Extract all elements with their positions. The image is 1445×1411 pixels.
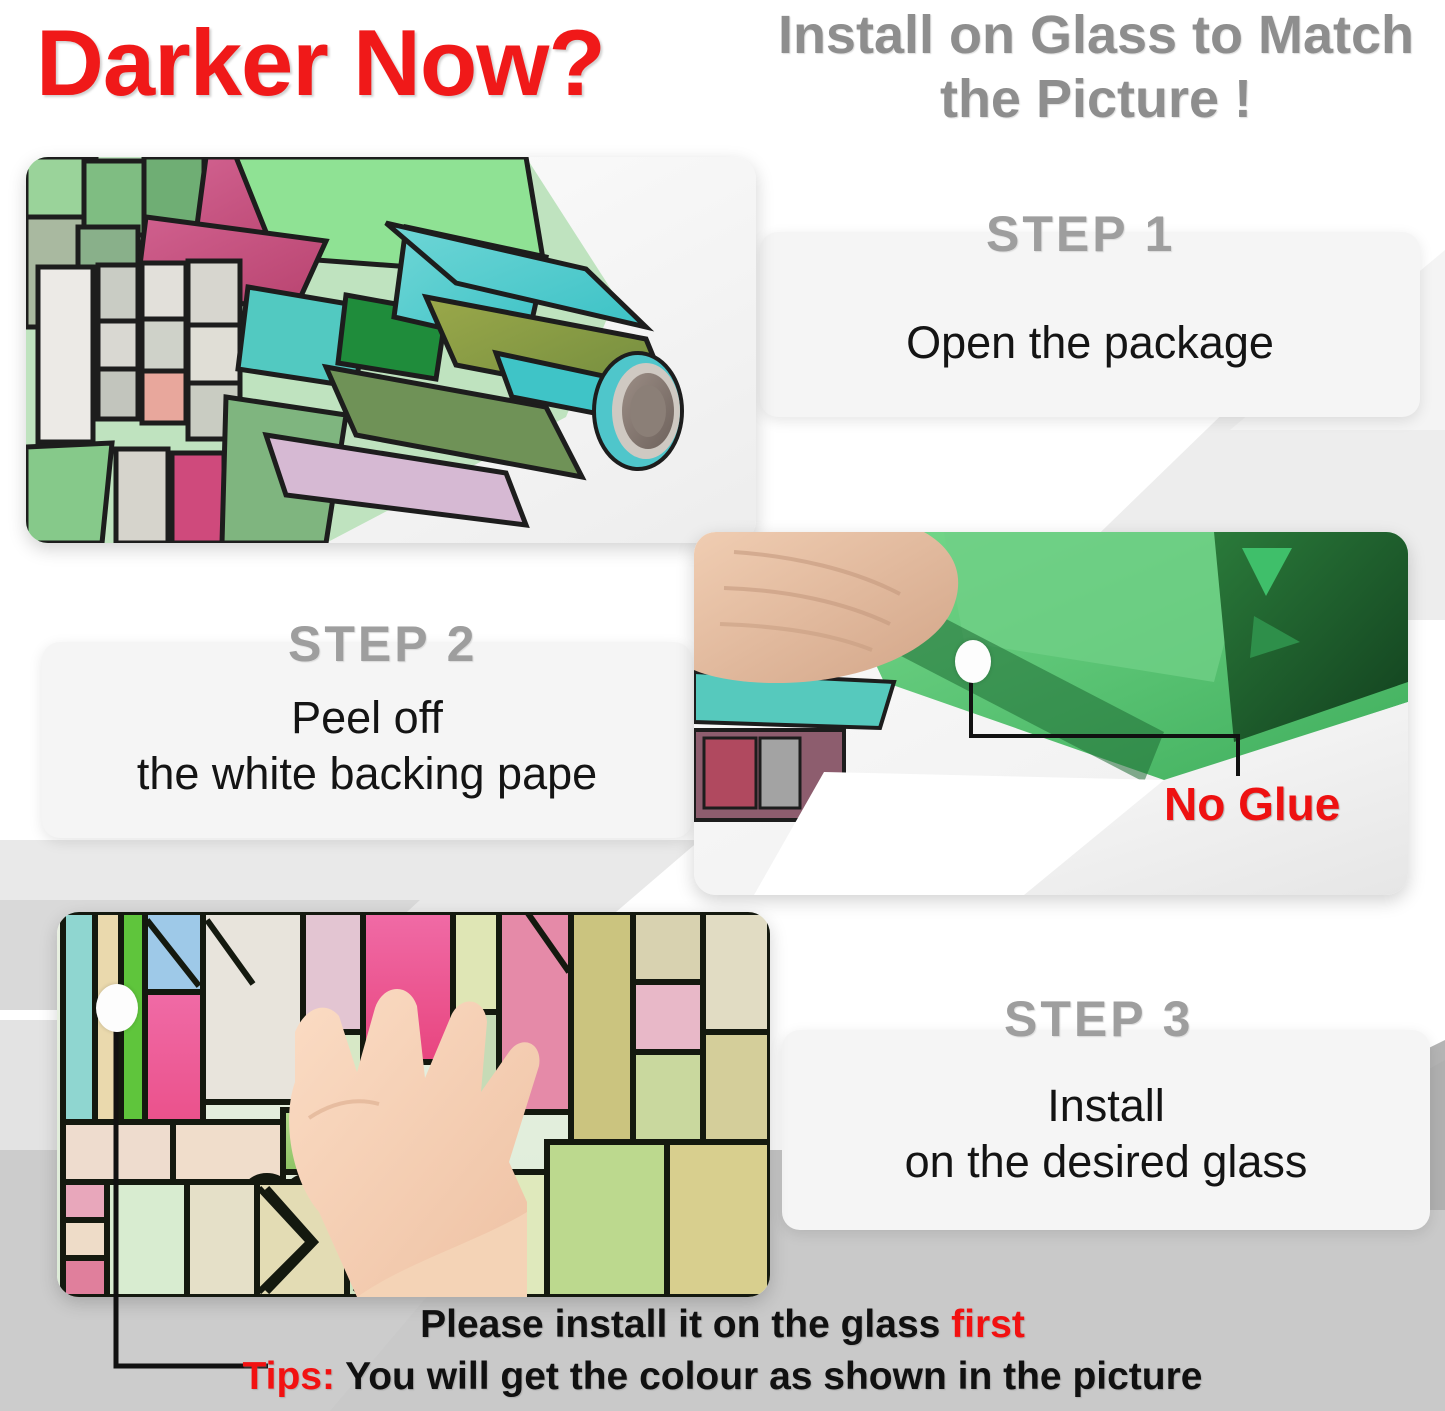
tips-marker-dot xyxy=(96,984,138,1032)
footer-line-1-text: Please install it on the glass xyxy=(420,1303,951,1346)
step-1-photo xyxy=(26,157,756,543)
footer-line-1-highlight: first xyxy=(951,1303,1025,1346)
step-3-body: Install on the desired glass xyxy=(782,1078,1430,1191)
headline-darker-now: Darker Now? xyxy=(36,14,605,113)
hand-peeling-backing-photo xyxy=(694,532,1408,895)
step-3-photo xyxy=(57,912,770,1297)
step-1-body: Open the package xyxy=(760,315,1420,371)
step-2-photo xyxy=(694,532,1408,895)
footer-line-1: Please install it on the glass first xyxy=(0,1303,1445,1347)
stained-glass-film-roll-photo xyxy=(26,157,756,543)
no-glue-marker-dot xyxy=(955,640,991,683)
footer-tips-label: Tips: xyxy=(243,1355,335,1398)
hand-installing-on-glass-photo xyxy=(57,912,770,1297)
no-glue-label: No Glue xyxy=(1164,777,1340,831)
footer-line-2: Tips: You will get the colour as shown i… xyxy=(0,1355,1445,1399)
headline-row: Darker Now? Install on Glass to Match th… xyxy=(0,0,1445,152)
headline-install-on-glass: Install on Glass to Match the Picture ! xyxy=(776,4,1416,131)
footer-line-2-text: You will get the colour as shown in the … xyxy=(335,1355,1202,1398)
step-3-label: STEP 3 xyxy=(1004,990,1193,1048)
step-2-label: STEP 2 xyxy=(288,615,477,673)
step-2-body: Peel off the white backing pape xyxy=(42,690,692,803)
step-1-label: STEP 1 xyxy=(986,205,1175,263)
